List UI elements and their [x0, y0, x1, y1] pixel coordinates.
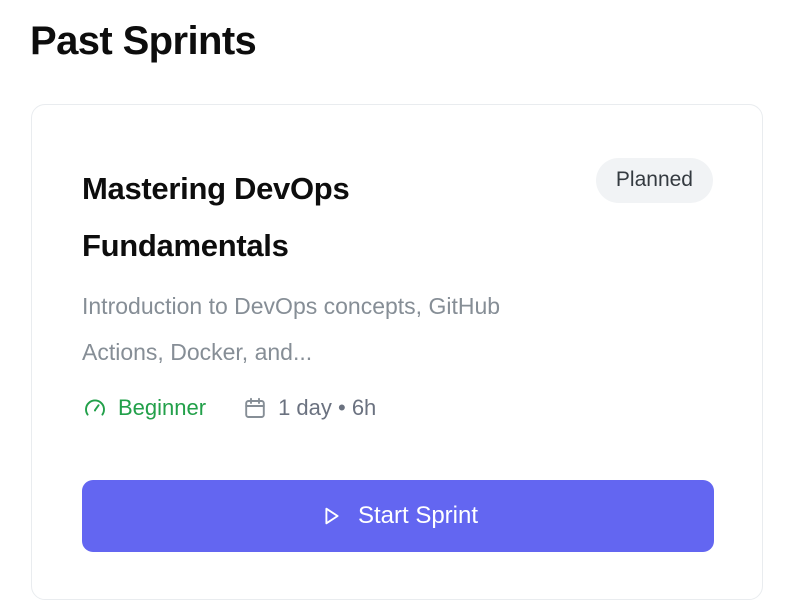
start-sprint-label: Start Sprint	[358, 504, 478, 528]
gauge-icon	[82, 395, 108, 421]
difficulty-meta: Beginner	[82, 395, 206, 421]
sprint-card-body: Planned Mastering DevOps Fundamentals In…	[32, 105, 762, 599]
play-icon	[318, 503, 344, 529]
difficulty-label: Beginner	[118, 397, 206, 419]
duration-meta: 1 day • 6h	[242, 395, 376, 421]
past-sprints-page: Past Sprints Planned Mastering DevOps Fu…	[0, 0, 786, 615]
sprint-card[interactable]: Planned Mastering DevOps Fundamentals In…	[31, 104, 763, 600]
sprint-title: Mastering DevOps Fundamentals	[82, 160, 502, 274]
page-title: Past Sprints	[30, 13, 256, 69]
sprint-meta-row: Beginner 1 day • 6h	[82, 395, 376, 421]
calendar-icon	[242, 395, 268, 421]
sprint-description: Introduction to DevOps concepts, GitHub …	[82, 283, 552, 375]
status-badge: Planned	[596, 158, 713, 203]
start-sprint-button[interactable]: Start Sprint	[82, 480, 714, 552]
duration-label: 1 day • 6h	[278, 397, 376, 419]
